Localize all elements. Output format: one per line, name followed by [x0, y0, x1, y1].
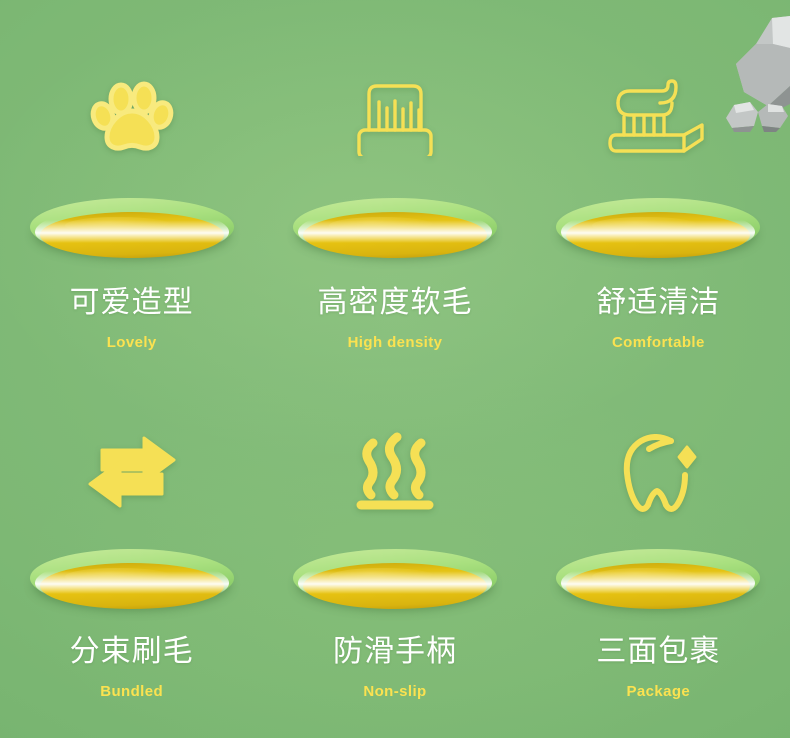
feature-title-en: Comfortable — [612, 335, 705, 350]
feature-title-cn: 高密度软毛 — [317, 288, 472, 318]
heat-waves-icon — [351, 431, 439, 513]
feature-icon-slot — [349, 62, 441, 172]
feature-title-en: Package — [626, 684, 690, 699]
disc-gloss — [561, 207, 755, 257]
tooth-sparkle-icon — [615, 429, 701, 515]
product-feature-banner: 可爱造型 Lovely — [0, 0, 790, 738]
feature-icon-slot — [606, 62, 710, 172]
toothbrush-paste-icon — [606, 77, 710, 157]
feature-title-en: Non-slip — [363, 684, 426, 699]
feature-icon-slot — [351, 417, 439, 527]
feature-card-comfortable[interactable]: 舒适清洁 Comfortable — [527, 0, 790, 369]
pedestal-disc — [30, 549, 234, 615]
feature-card-high-density[interactable]: 高密度软毛 High density — [263, 0, 526, 369]
pedestal-disc — [30, 198, 234, 264]
brush-bristles-icon — [349, 78, 441, 156]
feature-card-package[interactable]: 三面包裹 Package — [527, 369, 790, 738]
feature-title-cn: 可爱造型 — [70, 288, 194, 318]
pedestal-disc — [293, 549, 497, 615]
disc-gloss — [298, 558, 492, 608]
pedestal-disc — [556, 198, 760, 264]
pedestal-disc — [556, 549, 760, 615]
feature-title-cn: 防滑手柄 — [333, 637, 457, 667]
feature-title-cn: 三面包裹 — [596, 637, 720, 667]
feature-title-cn: 舒适清洁 — [596, 288, 720, 318]
pedestal-disc — [293, 198, 497, 264]
feature-icon-slot — [90, 62, 174, 172]
disc-gloss — [35, 207, 229, 257]
feature-title-en: Lovely — [107, 335, 157, 350]
disc-gloss — [35, 558, 229, 608]
feature-title-cn: 分束刷毛 — [70, 637, 194, 667]
feature-grid: 可爱造型 Lovely — [0, 0, 790, 738]
disc-gloss — [561, 558, 755, 608]
feature-card-non-slip[interactable]: 防滑手柄 Non-slip — [263, 369, 526, 738]
feature-title-en: High density — [348, 335, 443, 350]
feature-icon-slot — [615, 417, 701, 527]
feature-title-en: Bundled — [100, 684, 163, 699]
feature-icon-slot — [78, 417, 186, 527]
feature-card-lovely[interactable]: 可爱造型 Lovely — [0, 0, 263, 369]
disc-gloss — [298, 207, 492, 257]
paw-print-icon — [90, 78, 174, 156]
feature-card-bundled[interactable]: 分束刷毛 Bundled — [0, 369, 263, 738]
two-way-arrows-icon — [78, 432, 186, 512]
